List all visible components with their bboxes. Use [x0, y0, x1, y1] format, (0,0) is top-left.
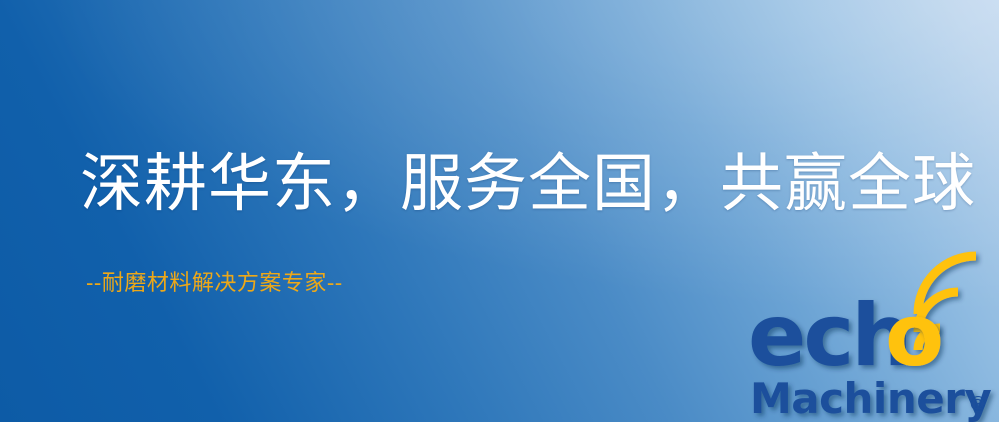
logo-artwork: ech o Machinery ® — [748, 292, 999, 422]
banner-headline: 深耕华东，服务全国，共赢全球 — [80, 150, 976, 218]
logo-registered-mark: ® — [968, 392, 988, 416]
banner-subtitle: --耐磨材料解决方案专家-- — [86, 271, 343, 297]
logo-text-machinery: Machinery — [750, 374, 991, 422]
echo-machinery-logo: ech o Machinery ® — [748, 292, 999, 422]
logo-text-o: o — [885, 286, 941, 386]
promo-banner: 深耕华东，服务全国，共赢全球 --耐磨材料解决方案专家-- ech o — [0, 0, 999, 422]
